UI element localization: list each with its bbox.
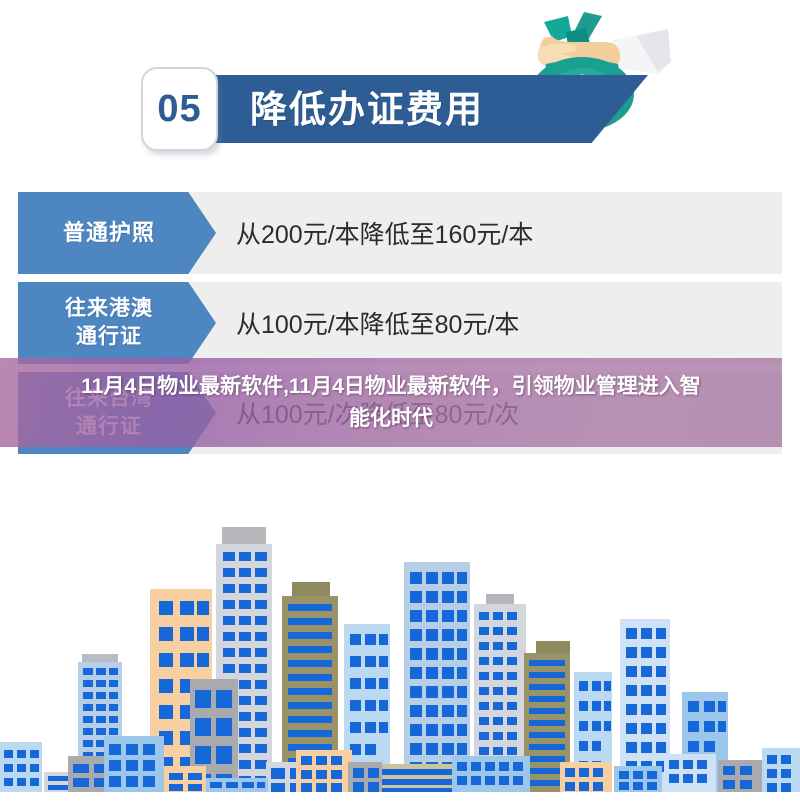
row-label-text: 往来港澳 通行证 [65,295,153,351]
city-skyline-illustration [0,494,800,804]
table-row: 普通护照 从200元/本降低至160元/本 [18,192,782,274]
row-label-hk-macau: 往来港澳 通行证 [18,282,216,364]
overlay-caption-band: 11月4日物业最新软件,11月4日物业最新软件，引领物业管理进入智能化时代 [0,358,782,447]
row-label-line2: 通行证 [76,325,142,348]
infographic-page: $ 降低办证费用 05 普通护照 从200元/本降低至160元/本 往来港澳 通… [0,0,800,804]
table-row: 往来港澳 通行证 从100元/本降低至80元/本 [18,282,782,364]
section-number-text: 05 [157,88,201,131]
row-label-text: 普通护照 [63,219,155,247]
row-value-passport: 从200元/本降低至160元/本 [236,192,533,274]
overlay-caption-text: 11月4日物业最新软件,11月4日物业最新软件，引领物业管理进入智能化时代 [41,371,741,435]
row-label-passport: 普通护照 [18,192,216,274]
header-section: $ 降低办证费用 05 [0,0,800,180]
row-label-line1: 往来港澳 [65,297,153,320]
page-title: 降低办证费用 [250,86,570,134]
row-value-hk-macau: 从100元/本降低至80元/本 [236,282,519,364]
section-number-badge: 05 [141,67,218,151]
